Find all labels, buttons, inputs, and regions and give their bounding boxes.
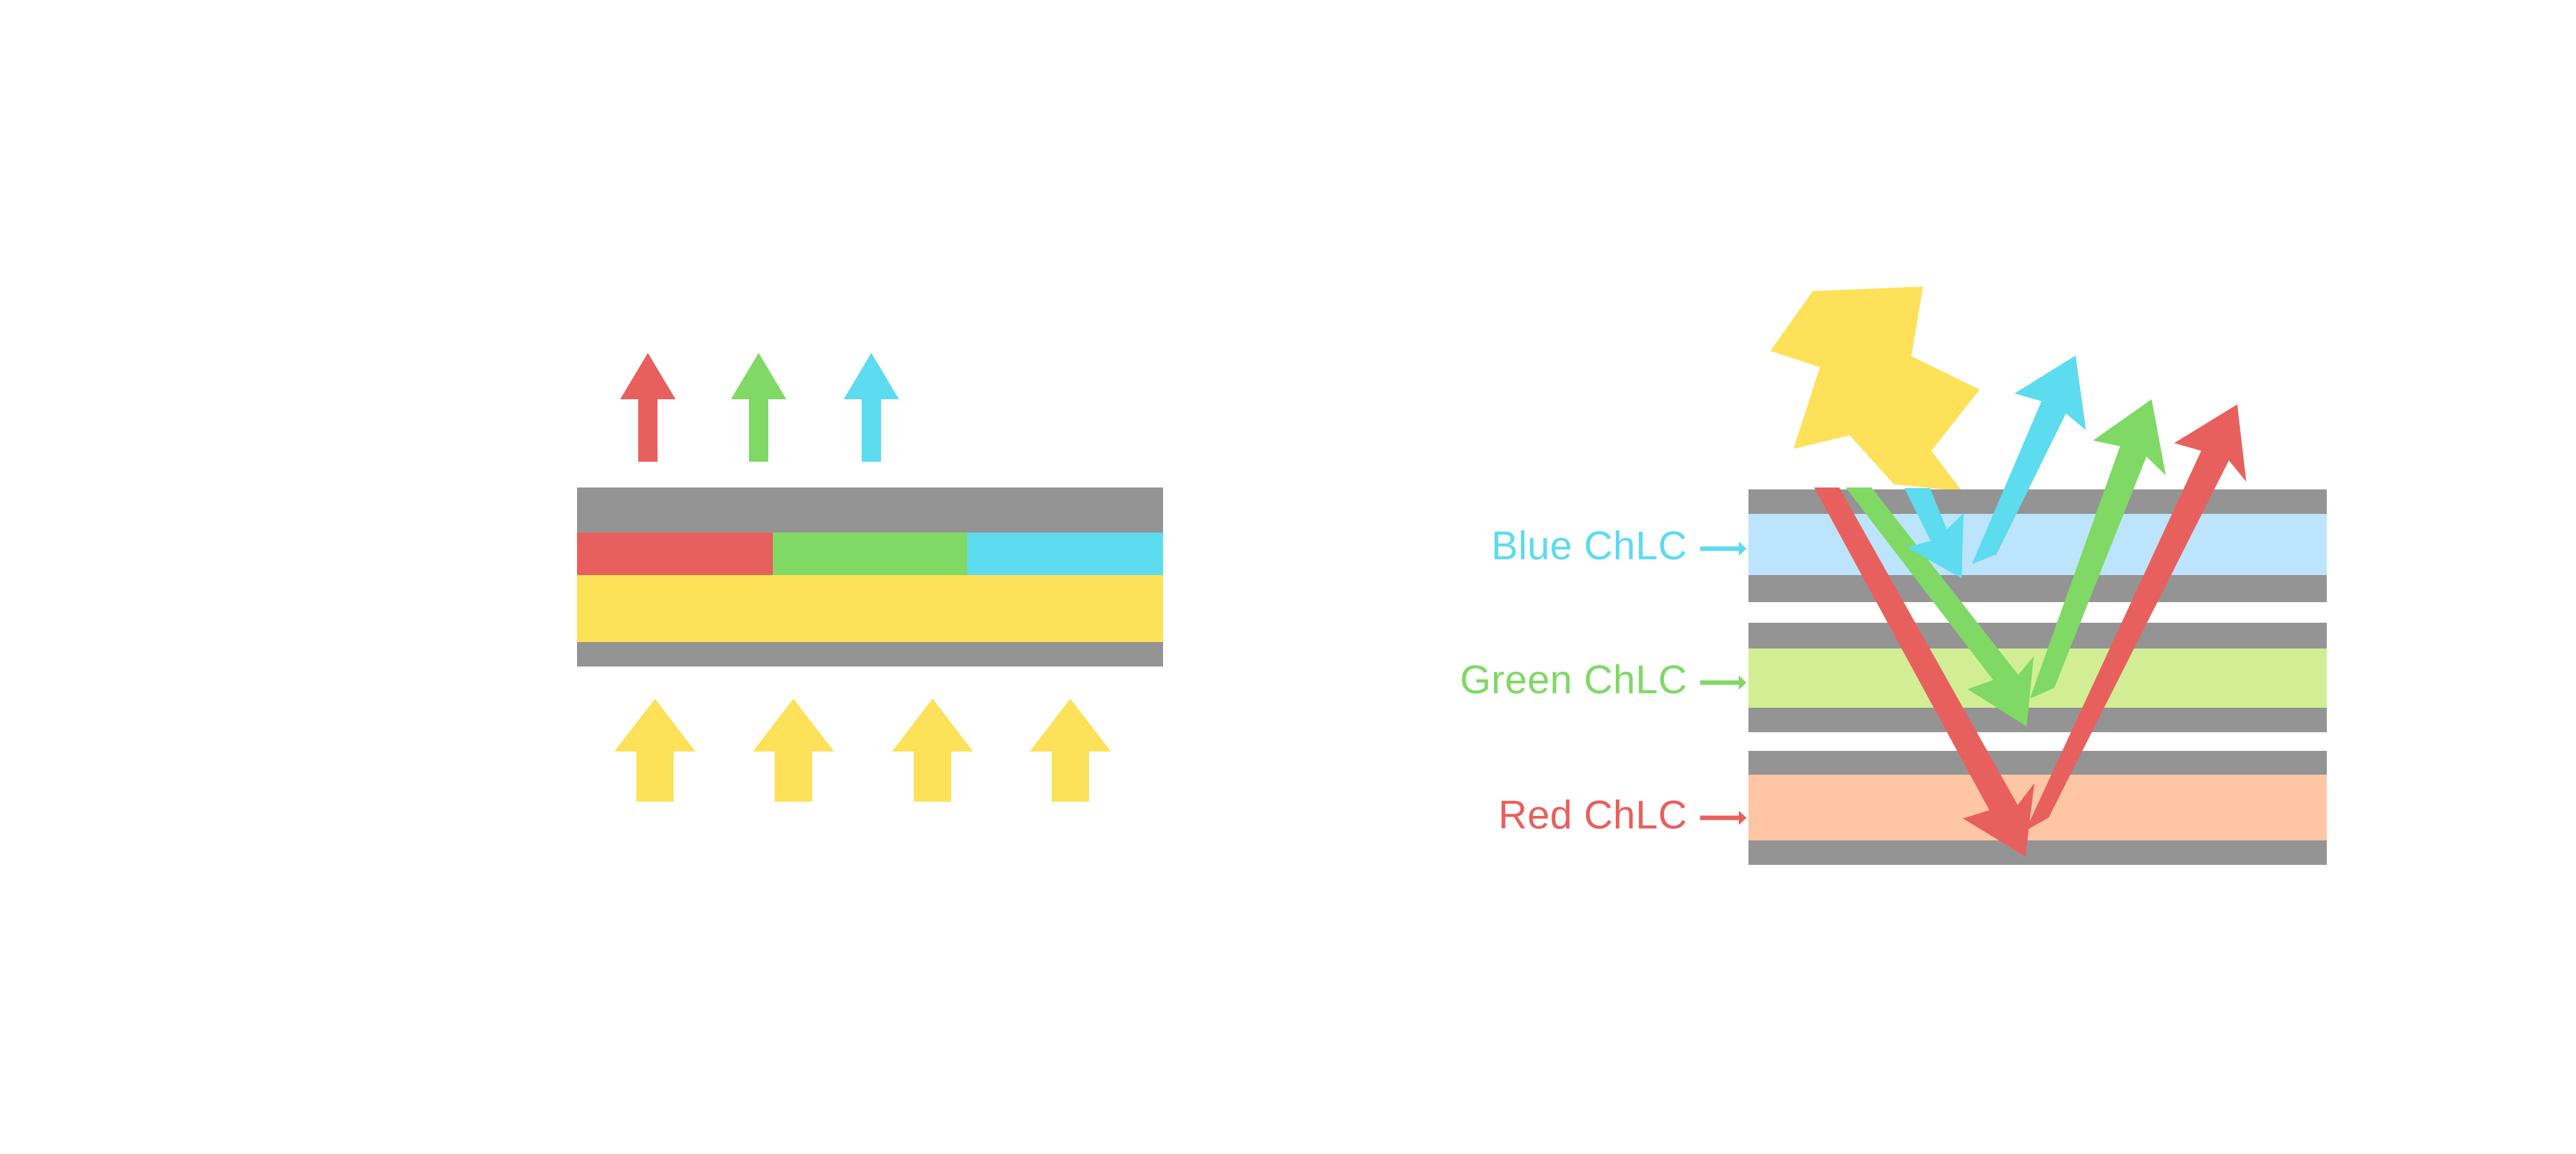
red-filter-segment (577, 533, 773, 575)
top-gray-layer (577, 487, 1163, 533)
green-cell-top-electrode (1748, 623, 2327, 648)
red-cell-top-electrode (1748, 751, 2327, 775)
label-red-chlc-text: Red ChLC (1499, 793, 1687, 837)
yellow-backlight-layer (577, 575, 1163, 642)
cyan-filter-segment (967, 533, 1163, 575)
bottom-gray-layer (577, 642, 1163, 667)
label-blue-chlc-text: Blue ChLC (1492, 524, 1687, 568)
chlc-display-diagram: Blue ChLC Green ChLC Red ChLC (0, 0, 2576, 1154)
green-filter-segment (773, 533, 967, 575)
left-device-stack (577, 487, 1163, 667)
red-cell-bottom-electrode (1748, 840, 2327, 865)
label-green-chlc-text: Green ChLC (1460, 657, 1687, 702)
blue-cell-bottom-electrode (1748, 575, 2327, 602)
green-cell-bottom-electrode (1748, 708, 2327, 732)
